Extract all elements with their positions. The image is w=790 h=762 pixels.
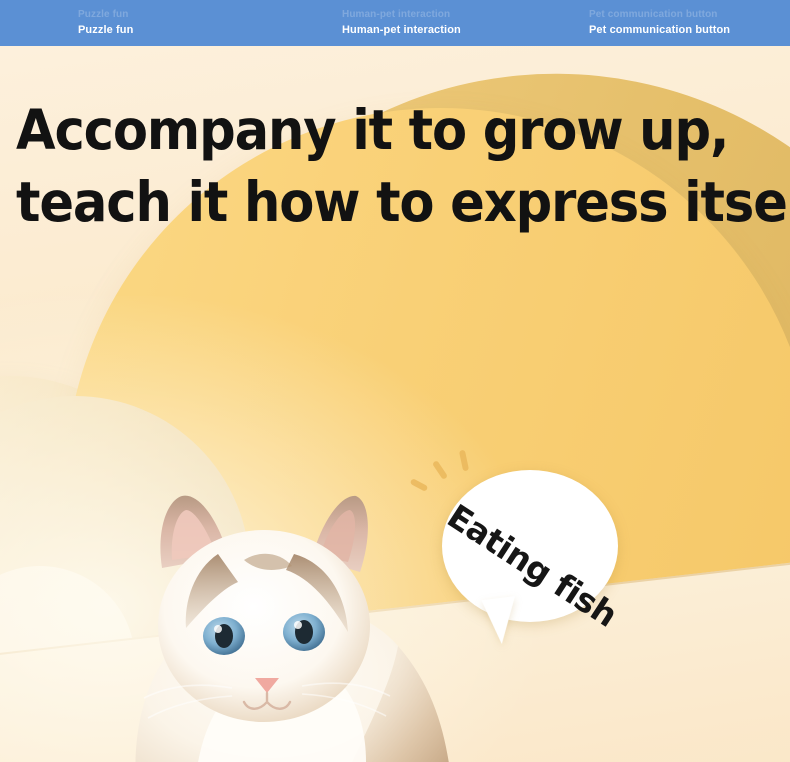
top-label-human-pet-interaction-text: Human-pet interaction [342,24,461,36]
speech-bubble-tail [481,596,520,646]
page-title-line-1: Accompany it to grow up, [16,94,736,166]
top-label-human-pet-interaction-ghost: Human-pet interaction [342,9,450,20]
cat-eye-right-glint [294,621,302,629]
top-label-bar: Puzzle fun Puzzle fun Human-pet interact… [0,0,790,46]
top-label-puzzle-fun-text: Puzzle fun [78,24,133,36]
cat-eye-left-glint [214,625,222,633]
cat-tail [498,746,790,762]
top-label-pet-communication-button-text: Pet communication button [589,24,730,36]
page-title: Accompany it to grow up, teach it how to… [16,94,736,238]
promotional-banner: Puzzle fun Puzzle fun Human-pet interact… [0,0,790,762]
top-label-puzzle-fun-ghost: Puzzle fun [78,9,128,20]
page-title-line-2: teach it how to express itself [16,166,736,238]
speech-bubble: Eating fish [442,470,618,622]
top-label-pet-communication-button-ghost: Pet communication button [589,9,718,20]
